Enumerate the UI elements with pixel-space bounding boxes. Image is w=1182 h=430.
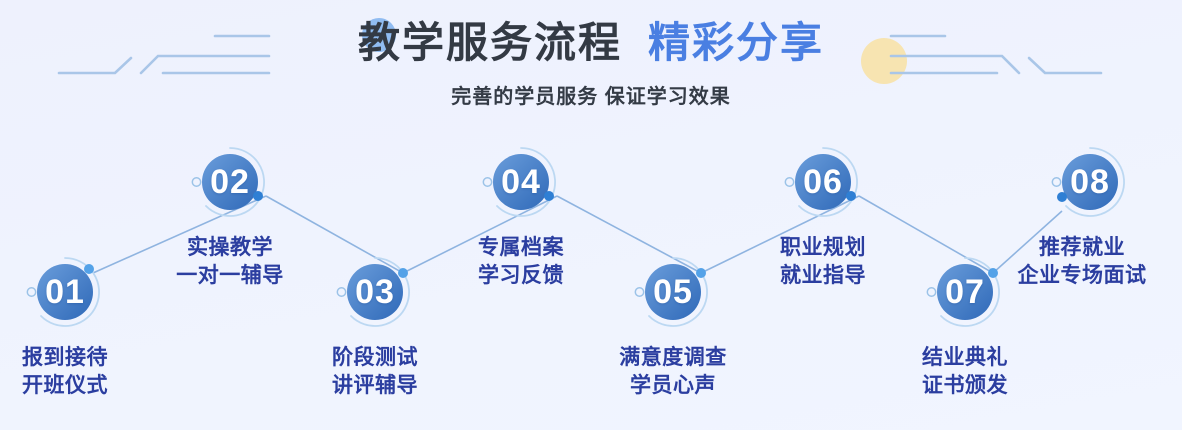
step-number-04: 04 (479, 140, 563, 224)
step-label-line1-01: 报到接待 (22, 346, 108, 369)
step-label-line2-05: 学员心声 (523, 372, 823, 400)
header: 教学服务流程精彩分享 完善的学员服务 保证学习效果 (0, 0, 1182, 120)
step-label-05: 满意度调查 学员心声 (523, 344, 823, 400)
step-label-line2-03: 讲评辅导 (255, 372, 495, 400)
step-number-02: 02 (188, 140, 272, 224)
step-label-line2-07: 证书颁发 (845, 372, 1085, 400)
step-number-06: 06 (781, 140, 865, 224)
step-label-line1-05: 满意度调查 (619, 346, 727, 369)
step-label-line1-08: 推荐就业 (1039, 236, 1125, 259)
step-label-line1-02: 实操教学 (187, 236, 273, 259)
decorative-lines-right-icon (855, 20, 1105, 100)
page-title-accent: 精彩分享 (648, 19, 824, 66)
step-number-01: 01 (23, 250, 107, 334)
step-label-line2-08: 企业专场面试 (932, 262, 1182, 290)
step-label-01: 报到接待 开班仪式 (0, 344, 185, 400)
step-number-08: 08 (1048, 140, 1132, 224)
step-label-line1-04: 专属档案 (478, 236, 564, 259)
step-label-line1-06: 职业规划 (780, 236, 866, 259)
step-label-07: 结业典礼 证书颁发 (845, 344, 1085, 400)
step-label-04: 专属档案 学习反馈 (401, 234, 641, 290)
infographic-canvas: 教学服务流程精彩分享 完善的学员服务 保证学习效果 (0, 0, 1182, 430)
step-label-line2-01: 开班仪式 (0, 372, 185, 400)
step-label-line1-07: 结业典礼 (922, 346, 1008, 369)
step-label-line2-02: 一对一辅导 (110, 262, 350, 290)
step-label-06: 职业规划 就业指导 (703, 234, 943, 290)
process-flow: 01 报到接待 开班仪式 (0, 120, 1182, 430)
step-label-08: 推荐就业 企业专场面试 (932, 234, 1182, 290)
step-label-line2-06: 就业指导 (703, 262, 943, 290)
step-label-02: 实操教学 一对一辅导 (110, 234, 350, 290)
step-label-03: 阶段测试 讲评辅导 (255, 344, 495, 400)
step-label-line1-03: 阶段测试 (332, 346, 418, 369)
page-title-main: 教学服务流程 (358, 19, 622, 66)
step-label-line2-04: 学习反馈 (401, 262, 641, 290)
